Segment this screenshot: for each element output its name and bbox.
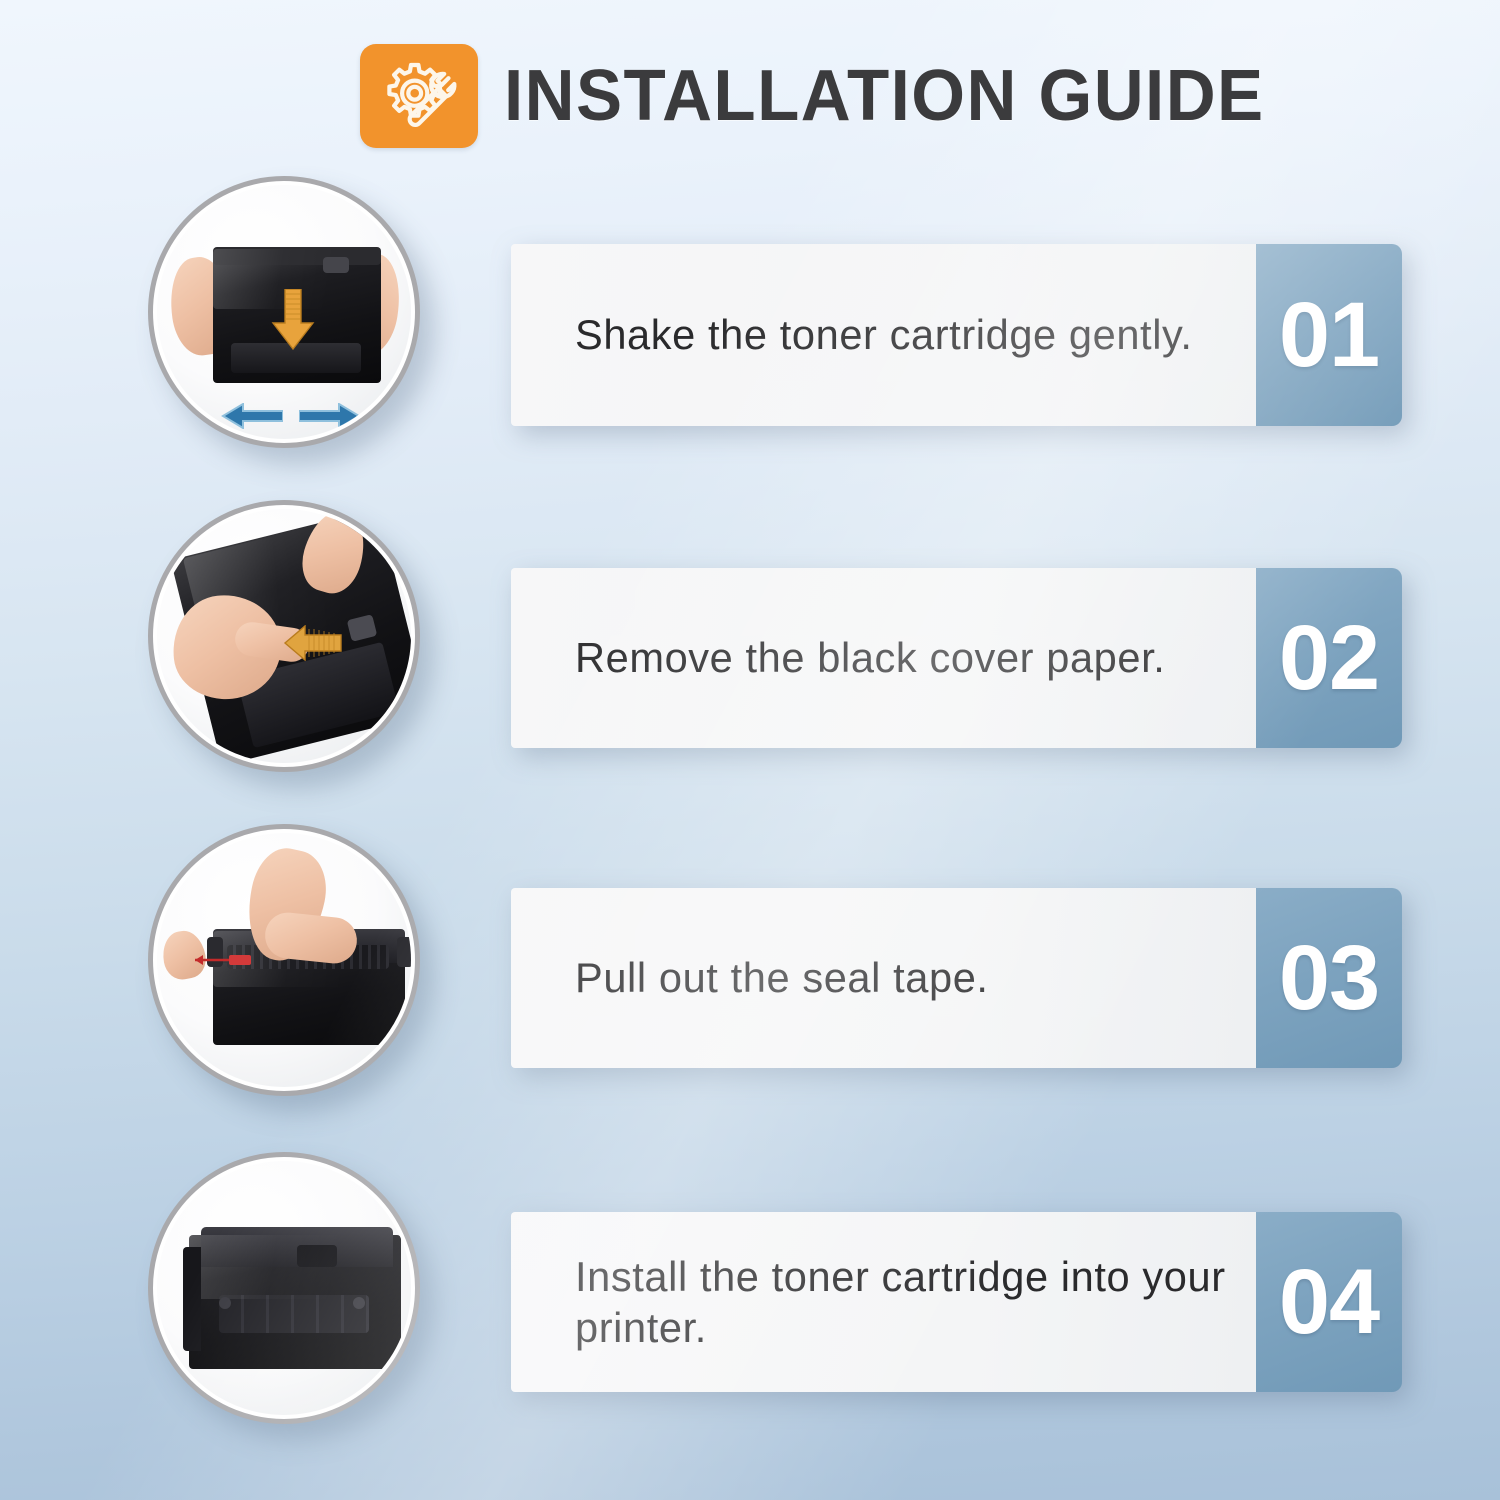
photo-shake-cartridge bbox=[148, 176, 420, 448]
orange-down-arrow-icon bbox=[269, 289, 317, 356]
step-number-badge: 02 bbox=[1256, 568, 1402, 748]
page-header: INSTALLATION GUIDE bbox=[360, 44, 1296, 148]
gear-wrench-icon bbox=[360, 44, 478, 148]
photo-remove-cover-paper bbox=[148, 500, 420, 772]
step-text: Install the toner cartridge into your pr… bbox=[575, 1251, 1249, 1353]
cartridge-highlight bbox=[189, 1235, 401, 1299]
blue-left-arrow-icon bbox=[221, 403, 283, 434]
cartridge-end-cap bbox=[183, 1247, 201, 1351]
photo-pull-seal-tape bbox=[148, 824, 420, 1096]
cartridge-handle-right bbox=[397, 937, 411, 967]
cartridge-screw-right bbox=[353, 1297, 365, 1309]
step-text: Shake the toner cartridge gently. bbox=[575, 309, 1192, 360]
step-text: Remove the black cover paper. bbox=[575, 632, 1165, 683]
step-card: Shake the toner cartridge gently. 01 bbox=[511, 244, 1402, 426]
step-card: Pull out the seal tape. 03 bbox=[511, 888, 1402, 1068]
red-seal-tape-icon bbox=[187, 951, 253, 974]
page-title: INSTALLATION GUIDE bbox=[504, 60, 1265, 132]
photo-install-cartridge bbox=[148, 1152, 420, 1424]
step-card-body: Install the toner cartridge into your pr… bbox=[511, 1212, 1256, 1392]
step-number-badge: 04 bbox=[1256, 1212, 1402, 1392]
step-card-body: Pull out the seal tape. bbox=[511, 888, 1256, 1068]
step-text: Pull out the seal tape. bbox=[575, 952, 989, 1003]
cartridge-screw-left bbox=[219, 1297, 231, 1309]
step-number-badge: 01 bbox=[1256, 244, 1402, 426]
step-card-body: Remove the black cover paper. bbox=[511, 568, 1256, 748]
blue-right-arrow-icon bbox=[299, 403, 361, 434]
installation-guide-page: INSTALLATION GUIDE bbox=[0, 0, 1500, 1500]
cartridge-drum-cover bbox=[219, 1295, 369, 1333]
step-number-badge: 03 bbox=[1256, 888, 1402, 1068]
cartridge-chip bbox=[323, 257, 349, 273]
step-card: Install the toner cartridge into your pr… bbox=[511, 1212, 1402, 1392]
orange-left-arrow-icon bbox=[283, 625, 343, 666]
step-card-body: Shake the toner cartridge gently. bbox=[511, 244, 1256, 426]
step-card: Remove the black cover paper. 02 bbox=[511, 568, 1402, 748]
steps-list: Shake the toner cartridge gently. 01 bbox=[0, 0, 1500, 1500]
